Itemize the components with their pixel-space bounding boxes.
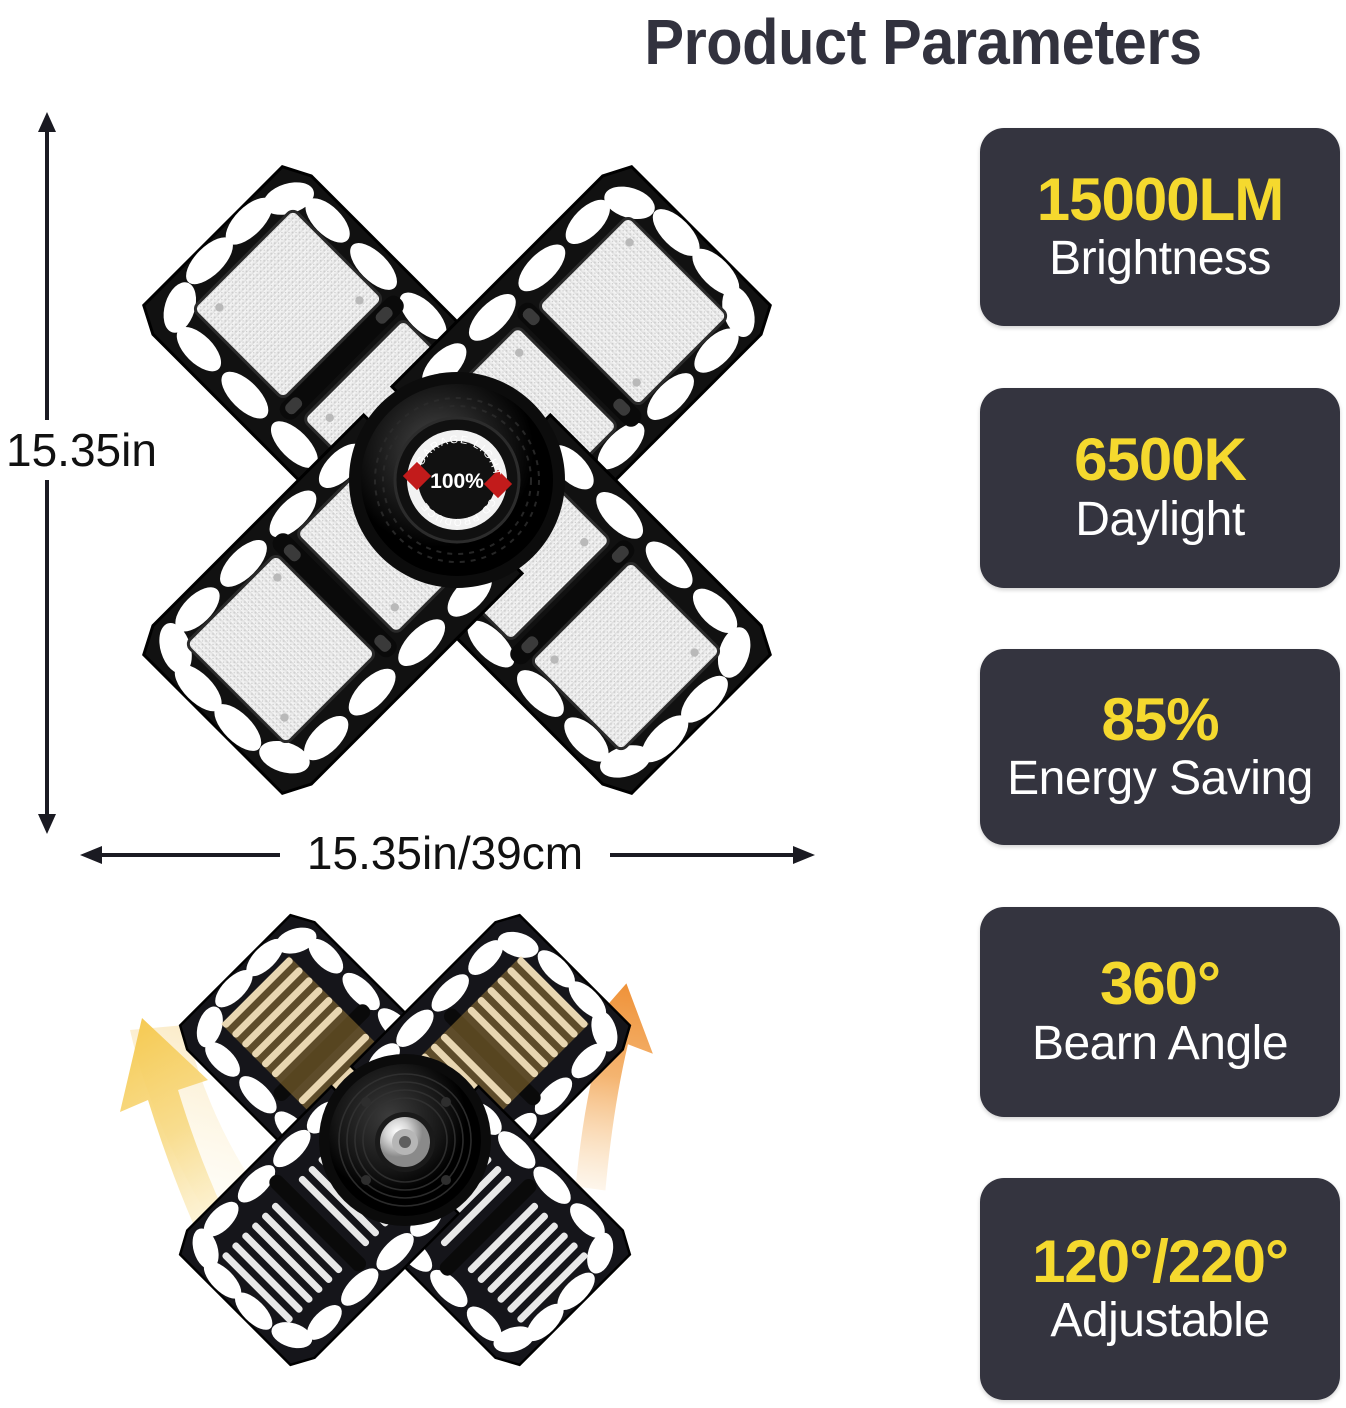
parameter-card-beam-angle[interactable]: 360° Bearn Angle bbox=[980, 907, 1340, 1117]
lamp-front-view-image: GARAGE LIGHT CD PRODUCE 100% bbox=[62, 110, 852, 850]
lamp-back-view-image bbox=[90, 890, 720, 1390]
parameter-label: Energy Saving bbox=[1007, 753, 1313, 806]
parameter-label: Brightness bbox=[1049, 233, 1271, 286]
parameter-card-adjustable[interactable]: 120°/220° Adjustable bbox=[980, 1178, 1340, 1400]
parameter-card-daylight[interactable]: 6500K Daylight bbox=[980, 388, 1340, 588]
parameter-card-energy-saving[interactable]: 85% Energy Saving bbox=[980, 649, 1340, 845]
product-illustrations: GARAGE LIGHT CD PRODUCE 100% bbox=[0, 0, 960, 1408]
parameter-cards-list: 15000LM Brightness 6500K Daylight 85% En… bbox=[980, 128, 1340, 1400]
height-dimension-label: 15.35in bbox=[0, 420, 175, 480]
parameter-value: 85% bbox=[1101, 688, 1218, 752]
hub-badge: GARAGE LIGHT CD PRODUCE 100% bbox=[395, 418, 519, 542]
parameter-value: 120°/220° bbox=[1032, 1230, 1288, 1294]
parameter-label: Bearn Angle bbox=[1032, 1018, 1288, 1071]
parameter-label: Adjustable bbox=[1050, 1295, 1269, 1348]
product-parameters-infographic: Product Parameters bbox=[0, 0, 1346, 1408]
parameter-value: 6500K bbox=[1074, 428, 1246, 492]
parameter-value: 15000LM bbox=[1037, 168, 1283, 232]
parameter-value: 360° bbox=[1100, 952, 1220, 1016]
parameter-card-brightness[interactable]: 15000LM Brightness bbox=[980, 128, 1340, 326]
parameter-label: Daylight bbox=[1075, 494, 1244, 547]
svg-text:100%: 100% bbox=[430, 470, 484, 493]
width-dimension-label: 15.35in/39cm bbox=[280, 822, 610, 884]
